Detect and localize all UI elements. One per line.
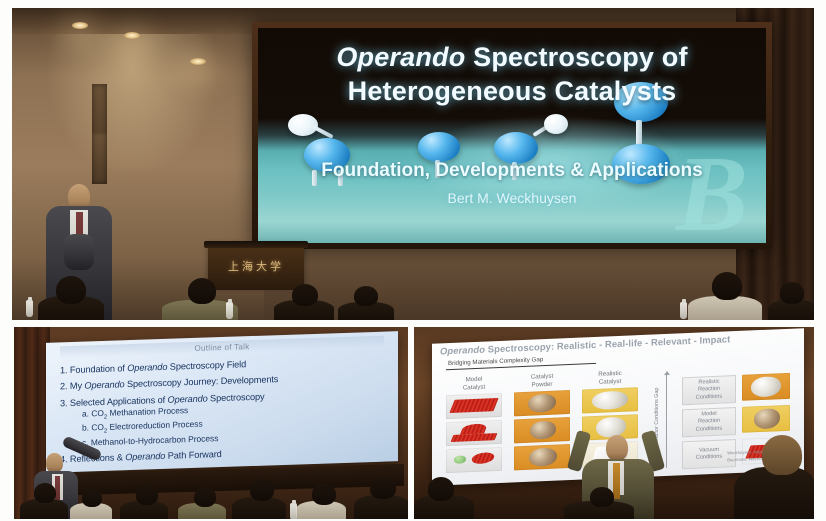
column-label-model-catalyst: Model Catalyst — [446, 375, 502, 393]
water-bottle — [680, 302, 687, 319]
watermark-letter: B — [676, 133, 744, 243]
condition-box-model: Model Reaction Conditions — [682, 407, 736, 437]
realistic-catalyst-chip — [592, 391, 628, 411]
audience-member — [428, 477, 454, 501]
outline-text-tail: Spectroscopy Journey: Developments — [125, 374, 279, 389]
model-catalyst-chip — [449, 398, 498, 413]
matrix-cell — [446, 447, 502, 473]
condition-box-realistic: Realistic Reaction Conditions — [682, 375, 736, 405]
downlight-icon — [72, 22, 88, 29]
outline-number: 1. — [60, 365, 67, 375]
audience-member — [712, 272, 742, 300]
audience-member — [734, 467, 814, 519]
downlight-icon — [190, 58, 206, 65]
outline-text-tail: Spectroscopy Field — [167, 359, 246, 372]
audience-member — [590, 487, 614, 507]
outline-emphasis: Operando — [168, 393, 208, 404]
title-operando-word: Operando — [336, 42, 465, 72]
catalyst-powder-chip — [528, 394, 556, 413]
matrix-cell — [446, 393, 502, 419]
projection-screen-frame: B — [252, 22, 772, 249]
catalyst-powder-chip — [754, 408, 780, 429]
water-bottle — [26, 300, 33, 317]
speaker-head — [46, 453, 63, 473]
cond-line-3: Conditions — [696, 393, 722, 401]
label-line-2: Powder — [514, 380, 570, 390]
audience-member — [354, 286, 378, 306]
cond-line-2: Conditions — [696, 454, 722, 462]
audience-member — [188, 278, 216, 304]
lectern-podium: 上海大学 — [208, 246, 304, 290]
condition-thumbnail — [742, 373, 790, 401]
subitem-letter: a. — [82, 409, 89, 419]
podium-top-edge — [204, 241, 308, 248]
subitem-text: Methanation Process — [107, 405, 188, 418]
slide-subtitle: Foundation, Developments & Applications — [258, 160, 766, 182]
model-catalyst-chip — [454, 455, 466, 464]
audience-member — [762, 435, 802, 475]
title-operando-word: Operando — [440, 344, 485, 357]
outline-emphasis: Operando — [125, 451, 165, 462]
realistic-catalyst-chip — [596, 417, 626, 438]
audience-member — [312, 483, 336, 505]
photo-collage: B — [0, 0, 826, 521]
realistic-catalyst-chip — [751, 376, 781, 397]
subitem-formula: CO — [91, 408, 104, 418]
subitem-formula: CO — [91, 422, 104, 432]
outline-text: My — [70, 381, 85, 391]
matrix-cell — [446, 420, 502, 446]
audience-member — [292, 284, 318, 306]
slide-title-line-2: Heterogeneous Catalysts — [258, 76, 766, 107]
reactor-conditions-axis — [666, 374, 667, 468]
audience-member — [250, 479, 274, 501]
audience-member — [194, 487, 216, 507]
matrix-cell — [514, 444, 570, 470]
audience-member — [34, 483, 56, 503]
title-rest-1: Spectroscopy of — [465, 42, 687, 72]
outline-emphasis: Operando — [127, 361, 167, 372]
catalyst-powder-chip — [530, 421, 556, 440]
audience-member — [780, 282, 804, 304]
bottom-left-panel-outline-photo: Outline of Talk 1. Foundation of Operand… — [14, 327, 408, 519]
catalyst-powder-chip — [529, 448, 557, 467]
audience-member — [56, 276, 86, 304]
title-slide: B — [258, 28, 766, 243]
podium-engraving: 上海大学 — [208, 258, 304, 274]
speaker-arm — [64, 234, 94, 270]
subitem-letter: b. — [82, 423, 89, 433]
outline-number: 3. — [60, 398, 67, 408]
speaker-head — [606, 435, 628, 461]
column-label-catalyst-powder: Catalyst Powder — [514, 372, 570, 390]
cond-line-3: Conditions — [696, 425, 722, 433]
subitem-text: Methanol-to-Hydrocarbon Process — [91, 433, 219, 447]
water-bottle — [226, 302, 233, 319]
audience-member — [136, 485, 158, 505]
matrix-cell — [514, 417, 570, 443]
condition-thumbnail — [742, 405, 790, 433]
label-line-2: Catalyst — [446, 383, 502, 393]
wall-niche-decor — [92, 84, 107, 184]
model-catalyst-chip — [451, 433, 498, 442]
outline-item-4: 4. Reflections & Operando Path Forward — [60, 444, 384, 465]
outline-text: Foundation of — [70, 363, 127, 375]
slide-title-line-1: Operando Spectroscopy of — [258, 42, 766, 73]
label-line-2: Catalyst — [582, 377, 638, 387]
slide-author: Bert M. Weckhuysen — [258, 190, 766, 206]
audience-member — [370, 477, 396, 499]
outline-text-tail: Spectroscopy — [208, 391, 265, 403]
outline-number: 2. — [60, 381, 67, 391]
audience-member — [82, 489, 102, 507]
outline-emphasis: Operando — [84, 379, 124, 390]
bottom-right-panel-complexity-photo: Operando Spectroscopy: Realistic - Real-… — [414, 327, 814, 519]
matrix-cell — [514, 390, 570, 416]
downlight-icon — [124, 32, 140, 39]
speaker-tie — [613, 463, 620, 499]
subitem-text: Electroreduction Process — [107, 419, 202, 432]
water-bottle — [290, 503, 297, 519]
top-panel-title-slide-photo: B — [12, 8, 814, 320]
model-catalyst-chip — [470, 452, 496, 464]
outline-text-tail: Path Forward — [165, 449, 221, 461]
matrix-cell — [582, 387, 638, 413]
column-label-realistic-catalyst: Realistic Catalyst — [582, 369, 638, 387]
